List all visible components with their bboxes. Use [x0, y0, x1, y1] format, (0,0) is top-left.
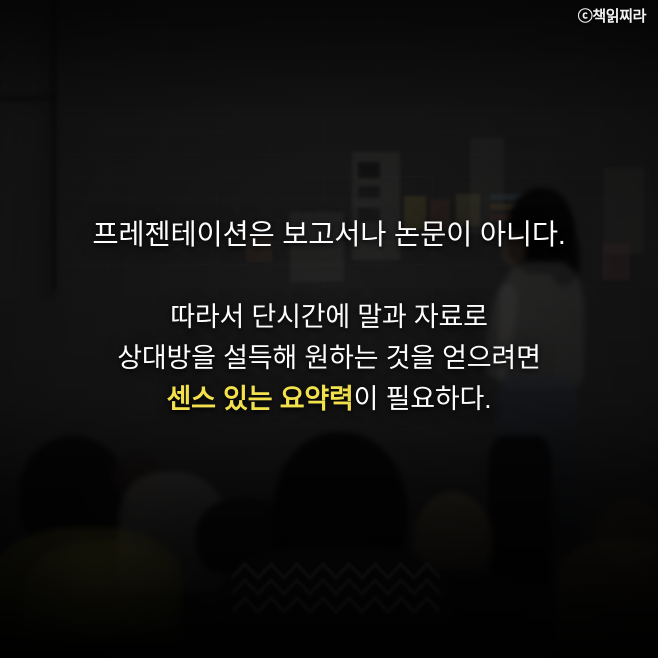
quote-line-1: 따라서 단시간에 말과 자료로	[0, 297, 658, 338]
quote-body: 따라서 단시간에 말과 자료로 상대방을 설득해 원하는 것을 얻으려면 센스 …	[0, 297, 658, 420]
quote-line-3: 센스 있는 요약력이 필요하다.	[0, 379, 658, 420]
quote-headline: 프레젠테이션은 보고서나 논문이 아니다.	[0, 218, 658, 253]
copyright-watermark: ⓒ책읽찌라	[578, 9, 646, 24]
quote-text-block: 프레젠테이션은 보고서나 논문이 아니다. 따라서 단시간에 말과 자료로 상대…	[0, 218, 658, 420]
quote-highlight-tail: 이 필요하다.	[354, 384, 492, 414]
quote-card: ⓒ책읽찌라 프레젠테이션은 보고서나 논문이 아니다. 따라서 단시간에 말과 …	[0, 0, 658, 658]
quote-highlight: 센스 있는 요약력	[167, 384, 354, 414]
quote-line-2: 상대방을 설득해 원하는 것을 얻으려면	[0, 338, 658, 379]
